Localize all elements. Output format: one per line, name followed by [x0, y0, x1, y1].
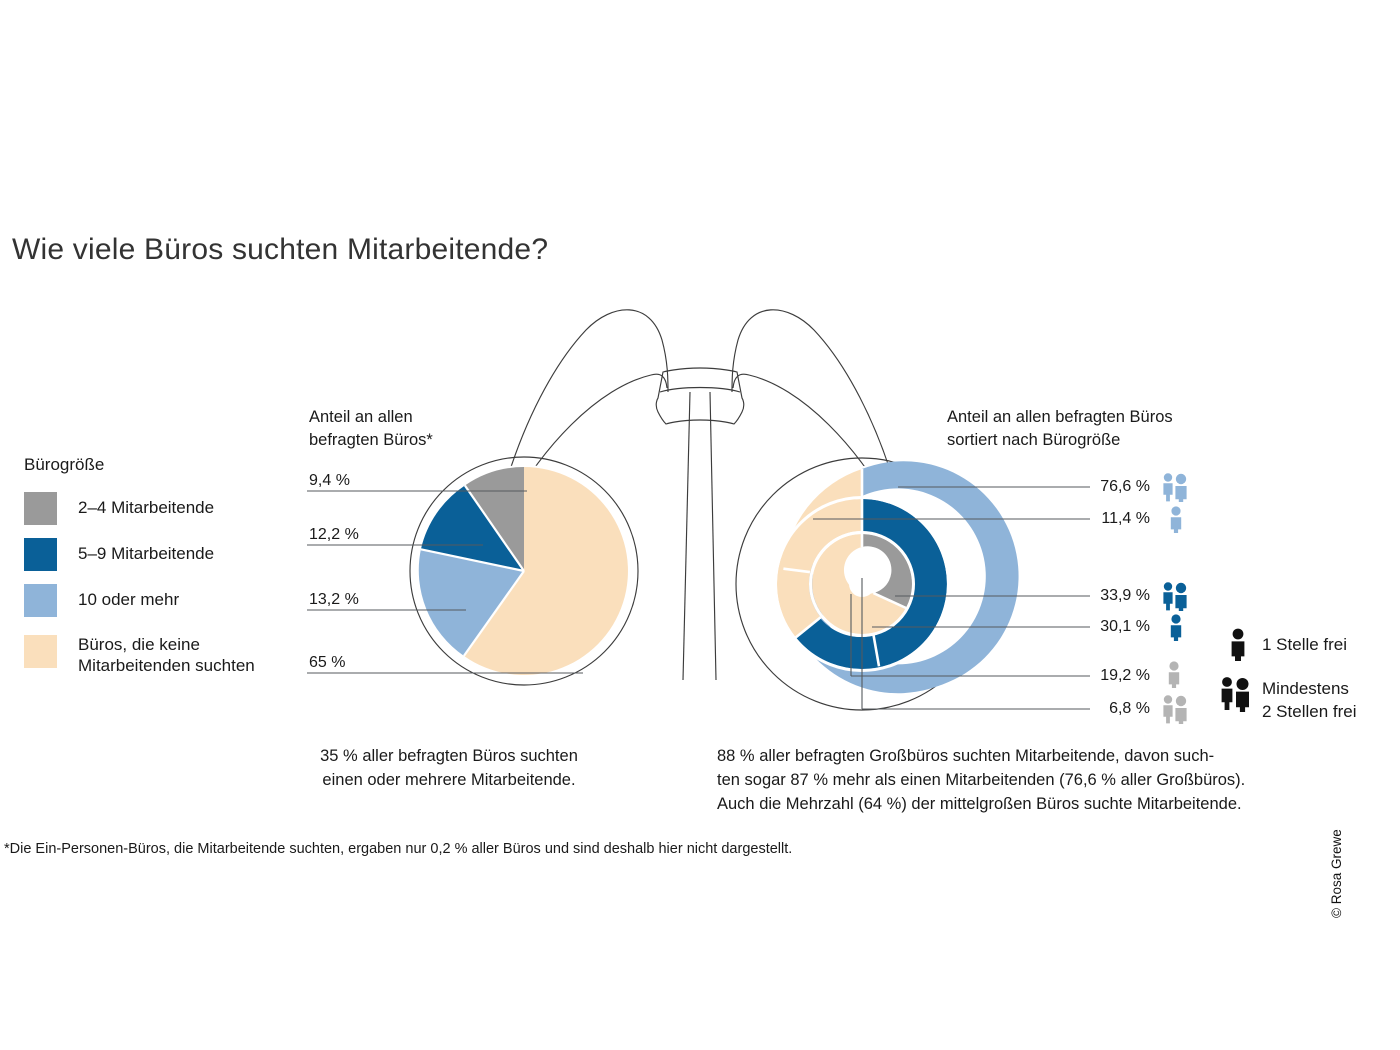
right-label-76-6: 76,6 %	[1000, 478, 1150, 496]
legend-swatch-dark-blue	[24, 538, 57, 571]
two-persons-icon	[1160, 472, 1192, 502]
left-label-65: 65 %	[309, 654, 345, 672]
left-chart-header: Anteil an allen befragten Büros*	[309, 406, 433, 453]
legend-item-keine: Büros, die keine Mitarbeitenden suchten	[24, 635, 324, 676]
legend-label-keine: Büros, die keine Mitarbeitenden suchten	[78, 635, 255, 676]
one-person-icon	[1228, 628, 1248, 661]
right-label-6-8: 6,8 %	[1000, 700, 1150, 718]
infographic-canvas: Wie viele Büros suchten Mitarbeitende?	[0, 0, 1400, 1050]
right-chart-header: Anteil an allen befragten Büros sortiert…	[947, 406, 1173, 453]
footnote: *Die Ein-Personen-Büros, die Mitarbeiten…	[4, 841, 792, 857]
two-persons-icon	[1160, 694, 1192, 724]
legend-swatch-cream	[24, 635, 57, 668]
legend-item-5-9: 5–9 Mitarbeitende	[24, 538, 324, 571]
icon-key-label-2: Mindestens 2 Stellen frei	[1262, 677, 1357, 723]
two-persons-icon	[1218, 676, 1256, 712]
one-person-icon	[1168, 506, 1184, 533]
left-label-9-4: 9,4 %	[309, 472, 350, 490]
right-label-19-2: 19,2 %	[1000, 667, 1150, 685]
left-chart-caption: 35 % aller befragten Büros suchten einen…	[294, 745, 604, 793]
one-person-icon	[1166, 661, 1182, 688]
credit: © Rosa Grewe	[1329, 798, 1344, 918]
legend-item-2-4: 2–4 Mitarbeitende	[24, 492, 324, 525]
right-label-11-4: 11,4 %	[1000, 510, 1150, 528]
legend-item-10-plus: 10 oder mehr	[24, 584, 324, 617]
legend-label-10-plus: 10 oder mehr	[78, 584, 179, 611]
right-chart-caption: 88 % aller befragten Großbüros suchten M…	[717, 745, 1377, 817]
legend-label-2-4: 2–4 Mitarbeitende	[78, 492, 214, 519]
right-label-30-1: 30,1 %	[1000, 618, 1150, 636]
legend-label-5-9: 5–9 Mitarbeitende	[78, 538, 214, 565]
right-donut-chart	[736, 458, 1019, 710]
legend-swatch-light-blue	[24, 584, 57, 617]
one-person-icon	[1168, 614, 1184, 641]
left-label-12-2: 12,2 %	[309, 526, 359, 544]
two-persons-icon	[1160, 581, 1192, 611]
legend: Bürogröße 2–4 Mitarbeitende 5–9 Mitarbei…	[24, 455, 324, 689]
right-label-33-9: 33,9 %	[1000, 587, 1150, 605]
icon-key-label-1: 1 Stelle frei	[1262, 635, 1347, 655]
legend-swatch-gray	[24, 492, 57, 525]
legend-title: Bürogröße	[24, 455, 324, 475]
left-label-13-2: 13,2 %	[309, 591, 359, 609]
